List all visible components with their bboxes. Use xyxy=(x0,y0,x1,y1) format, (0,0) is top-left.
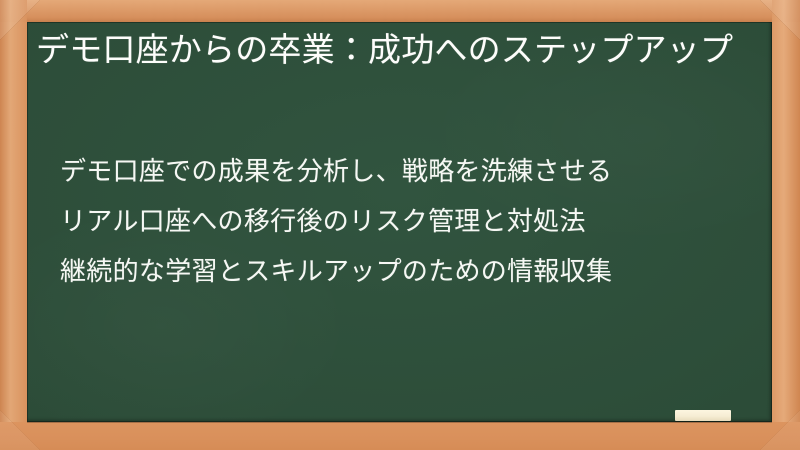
chalk-stick xyxy=(675,410,731,421)
frame-rail-bottom xyxy=(0,422,800,450)
frame-rail-right xyxy=(772,0,800,450)
blackboard-surface: デモ口座からの卒業：成功へのステップアップ デモ口座での成果を分析し、戦略を洗練… xyxy=(27,22,772,422)
frame-rail-left xyxy=(0,0,27,450)
slide-title: デモ口座からの卒業：成功へのステップアップ xyxy=(36,28,760,72)
bullet-line-3: 継続的な学習とスキルアップのための情報収集 xyxy=(60,246,760,296)
bullet-line-2: リアル口座への移行後のリスク管理と対処法 xyxy=(60,196,760,246)
frame-rail-top xyxy=(0,0,800,22)
blackboard-slide: デモ口座からの卒業：成功へのステップアップ デモ口座での成果を分析し、戦略を洗練… xyxy=(0,0,800,450)
blackboard-content: デモ口座からの卒業：成功へのステップアップ デモ口座での成果を分析し、戦略を洗練… xyxy=(27,22,772,422)
bullet-line-1: デモ口座での成果を分析し、戦略を洗練させる xyxy=(60,146,760,196)
bullet-list: デモ口座での成果を分析し、戦略を洗練させる リアル口座への移行後のリスク管理と対… xyxy=(60,146,760,296)
